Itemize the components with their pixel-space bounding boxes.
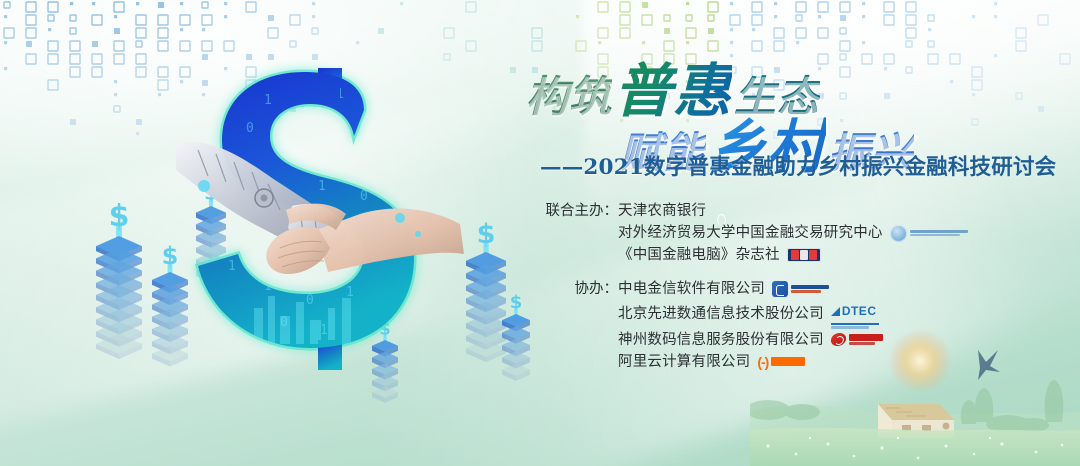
cetc-gientech-logo	[772, 281, 829, 297]
svg-text:0: 0	[300, 105, 308, 120]
organizer-name-3: 《中国金融电脑》杂志社	[618, 244, 780, 266]
svg-text:1: 1	[318, 179, 326, 194]
svg-text:1: 1	[320, 323, 328, 338]
svg-text:$: $	[510, 292, 523, 313]
svg-text:1: 1	[264, 93, 272, 108]
svg-text:0: 0	[326, 143, 334, 158]
coin-stack-5: $	[502, 290, 530, 384]
svg-text:1: 1	[228, 259, 236, 274]
co-organizer-name-2: 北京先进数通信息技术股份公司	[618, 303, 824, 325]
svg-text:0: 0	[246, 121, 254, 136]
svg-text:1: 1	[368, 151, 376, 166]
fcc-magazine-logo	[787, 248, 821, 262]
headline-seg-gouzhu: 构筑	[526, 63, 612, 124]
co-organizer-line-2: 北京先进数通信息技术股份公司 DTEC	[534, 300, 1004, 329]
svg-text:1: 1	[286, 135, 294, 150]
organizers-label: 联合主办：	[534, 200, 618, 222]
co-organizer-name-3: 神州数码信息服务股份有限公司	[618, 329, 824, 351]
coin-stack-4: $	[466, 216, 506, 365]
organizers-block: 联合主办： 天津农商银行 对外经济贸易大学中国金融交易研究中心 《中国金融电脑》…	[534, 200, 1004, 266]
credits-block: 联合主办： 天津农商银行 对外经济贸易大学中国金融交易研究中心 《中国金融电脑》…	[534, 200, 1004, 385]
svg-text:0: 0	[238, 225, 246, 240]
field-flowers	[766, 437, 1063, 460]
organizer-line-3: 《中国金融电脑》杂志社	[534, 244, 1004, 266]
svg-text:$: $	[477, 219, 496, 250]
aliyun-logo: (-)	[757, 351, 805, 373]
coin-stack-1: $	[96, 196, 142, 360]
svg-text:0: 0	[364, 113, 372, 128]
co-organizers-label: 协办：	[534, 278, 618, 300]
co-organizer-line-4: 阿里云计算有限公司 (-)	[534, 351, 1004, 373]
organizer-name-2: 对外经济贸易大学中国金融交易研究中心	[618, 222, 883, 244]
svg-text:$: $	[109, 199, 130, 234]
subtitle: ——2021数字普惠金融助力乡村振兴金融科技研讨会	[540, 150, 1080, 181]
trees	[750, 380, 1063, 433]
organizer-line-2: 对外经济贸易大学中国金融交易研究中心	[534, 222, 1004, 244]
poster-banner: $	[0, 0, 1080, 466]
svg-text:1: 1	[346, 285, 354, 300]
uibe-finance-research-center-logo	[890, 225, 968, 242]
organizer-name-1: 天津农商银行	[618, 200, 706, 222]
farmhouse	[878, 404, 954, 438]
grass-field	[750, 428, 1080, 466]
organizer-line-1: 联合主办： 天津农商银行	[534, 200, 1004, 222]
co-organizer-line-1: 协办： 中电金信软件有限公司	[534, 278, 1004, 300]
far-hills	[750, 405, 1080, 466]
co-organizer-name-1: 中电金信软件有限公司	[618, 278, 765, 300]
co-organizer-line-3: 神州数码信息服务股份有限公司	[534, 329, 1004, 351]
co-organizer-name-4: 阿里云计算有限公司	[618, 351, 750, 373]
co-organizers-block: 协办： 中电金信软件有限公司 北京先进数通信息技术股份公司 DTEC 神州数码信…	[534, 278, 1004, 373]
svg-text:0: 0	[306, 293, 314, 308]
dtec-logo: DTEC	[831, 300, 879, 329]
dollar-sign-handshake-illustration: 10 10 01 01 10 10 01 01 10 10 11	[168, 58, 468, 378]
dcits-logo	[831, 333, 883, 346]
